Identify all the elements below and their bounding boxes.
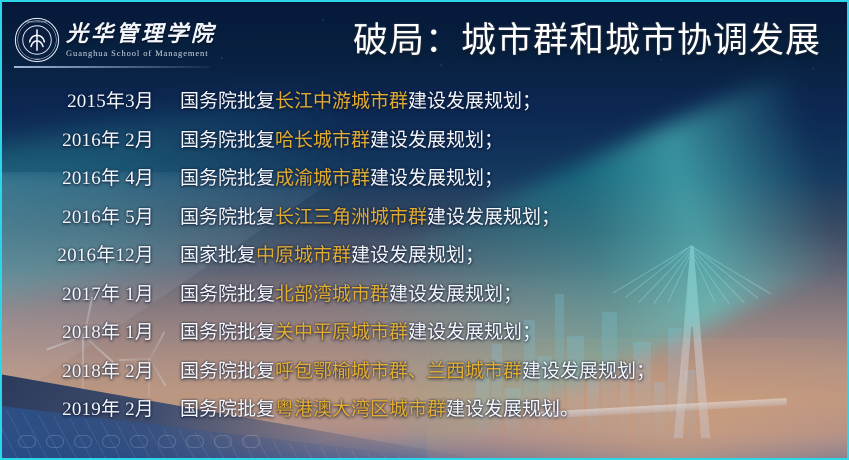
timeline-row-prefix: 国家批复 [180,245,256,266]
timeline-row-text: 国务院批复粤港澳大湾区城市群建设发展规划。 [180,394,579,421]
timeline-row-text: 国务院批复呼包鄂榆城市群、兰西城市群建设发展规划； [180,356,655,383]
timeline-row: 2016年 2月国务院批复哈长城市群建设发展规划； [2,125,847,164]
institution-name-cn: 光华管理学院 [66,22,216,46]
timeline-row-prefix: 国务院批复 [180,322,275,343]
policy-timeline-list: 2015年3月国务院批复长江中游城市群建设发展规划；2016年 2月国务院批复哈… [2,86,847,433]
timeline-row-suffix: 建设发展规划； [389,284,522,305]
timeline-row-highlight: 成渝城市群 [275,168,370,189]
timeline-row: 2015年3月国务院批复长江中游城市群建设发展规划； [2,86,847,125]
timeline-row-date: 2016年 2月 [2,125,154,152]
timeline-row: 2016年 5月国务院批复长江三角洲城市群建设发展规划； [2,202,847,241]
timeline-row-prefix: 国务院批复 [180,168,275,189]
timeline-row-prefix: 国务院批复 [180,399,275,420]
timeline-row: 2018年 2月国务院批复呼包鄂榆城市群、兰西城市群建设发展规划； [2,356,847,395]
timeline-row-prefix: 国务院批复 [180,91,275,112]
timeline-row-prefix: 国务院批复 [180,284,275,305]
timeline-row-highlight: 呼包鄂榆城市群、兰西城市群 [275,361,522,382]
timeline-row-highlight: 粤港澳大湾区城市群 [275,399,446,420]
timeline-row-highlight: 关中平原城市群 [275,322,408,343]
timeline-row-highlight: 长江三角洲城市群 [275,207,427,228]
institution-name-en: Guanghua School of Management [66,48,216,58]
timeline-row-suffix: 建设发展规划； [408,91,541,112]
svg-text:1898: 1898 [35,58,41,61]
timeline-row-date: 2016年12月 [2,240,154,267]
slide-title: 破局：城市群和城市协调发展 [353,16,821,66]
timeline-row-suffix: 建设发展规划； [427,207,560,228]
timeline-row-date: 2015年3月 [2,86,154,113]
timeline-row-suffix: 建设发展规划； [408,322,541,343]
timeline-row: 2016年 4月国务院批复成渝城市群建设发展规划； [2,163,847,202]
timeline-row-text: 国务院批复北部湾城市群建设发展规划； [180,279,522,306]
timeline-row-date: 2016年 5月 [2,202,154,229]
timeline-row-suffix: 建设发展规划。 [446,399,579,420]
institution-logo: PEKING UNIVERSITY 1898 光华管理学院 Guanghua S… [14,14,216,66]
timeline-row-highlight: 哈长城市群 [275,130,370,151]
timeline-row-text: 国务院批复长江三角洲城市群建设发展规划； [180,202,560,229]
timeline-row-date: 2019年 2月 [2,394,154,421]
timeline-row: 2017年 1月国务院批复北部湾城市群建设发展规划； [2,279,847,318]
timeline-row-text: 国务院批复哈长城市群建设发展规划； [180,125,503,152]
timeline-row-prefix: 国务院批复 [180,130,275,151]
timeline-row-suffix: 建设发展规划； [522,361,655,382]
timeline-row-date: 2018年 2月 [2,356,154,383]
timeline-row-highlight: 北部湾城市群 [275,284,389,305]
timeline-row-prefix: 国务院批复 [180,361,275,382]
timeline-row-prefix: 国务院批复 [180,207,275,228]
timeline-row-date: 2016年 4月 [2,163,154,190]
timeline-row-date: 2017年 1月 [2,279,154,306]
timeline-row-suffix: 建设发展规划； [370,130,503,151]
timeline-row-text: 国务院批复长江中游城市群建设发展规划； [180,86,541,113]
timeline-row-text: 国务院批复成渝城市群建设发展规划； [180,163,503,190]
timeline-row-highlight: 中原城市群 [256,245,351,266]
timeline-row: 2016年12月国家批复中原城市群建设发展规划； [2,240,847,279]
peking-university-seal-icon: PEKING UNIVERSITY 1898 [14,17,60,63]
svg-text:PEKING UNIVERSITY: PEKING UNIVERSITY [25,21,50,24]
timeline-row-text: 国家批复中原城市群建设发展规划； [180,240,484,267]
timeline-row-highlight: 长江中游城市群 [275,91,408,112]
logo-underline [14,66,210,68]
slide-header: PEKING UNIVERSITY 1898 光华管理学院 Guanghua S… [2,2,847,88]
timeline-row-date: 2018年 1月 [2,317,154,344]
timeline-row: 2018年 1月国务院批复关中平原城市群建设发展规划； [2,317,847,356]
timeline-row: 2019年 2月国务院批复粤港澳大湾区城市群建设发展规划。 [2,394,847,433]
timeline-row-suffix: 建设发展规划； [351,245,484,266]
slide: PEKING UNIVERSITY 1898 光华管理学院 Guanghua S… [0,0,849,460]
timeline-row-suffix: 建设发展规划； [370,168,503,189]
timeline-row-text: 国务院批复关中平原城市群建设发展规划； [180,317,541,344]
